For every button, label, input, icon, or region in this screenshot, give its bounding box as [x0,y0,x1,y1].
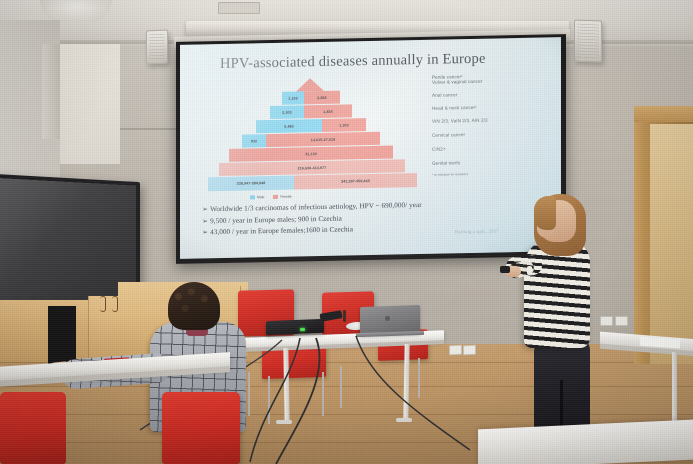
wall-column [42,44,60,139]
chart-label-anal: Anal cancer [432,91,554,98]
wall-outlet[interactable] [600,316,613,326]
chart-legend: Male Female [250,195,292,200]
pen-object[interactable] [343,310,346,322]
legend-item-male: Male [250,195,264,199]
cabinet-handle-icon[interactable] [112,296,118,312]
laptop-logo-icon [385,316,390,321]
wall-speaker-right [574,20,602,63]
legend-swatch-male [250,195,255,199]
pyramid-value-male: 5,485 [256,119,322,133]
pyramid-value-male: 2,303 [270,105,304,119]
upper-wall-panel [60,44,120,164]
chart-label-cin2: CIN2+ [432,145,554,152]
chair-red-attendee[interactable] [162,392,240,464]
slide-bullet-text: 9,500 / year in Europe males; 900 in Cze… [210,214,342,225]
bullet-marker-icon: ➢ [202,229,208,237]
ceiling-light-dome [40,0,112,22]
legend-item-female: Female [273,195,291,199]
presentation-clicker[interactable] [500,266,510,273]
pyramid-row: 5,485 1,303 [256,118,366,133]
pyramid-row: 338,947-384,948 341,397-459,443 [208,173,417,191]
wall-speaker-left [146,30,168,65]
door-header [634,106,693,122]
chart-label-warts: Genital warts [432,159,554,166]
legend-label-male: Male [257,195,264,199]
bullet-marker-icon: ➢ [202,205,208,213]
presenter-watch [527,266,532,275]
attendee-hair [168,282,220,330]
pyramid-value-female: 1,834 [304,104,352,118]
slide-bullet-text: 43,000 / year in Europe females;1600 in … [210,226,353,237]
projector-screen: HPV-associated diseases annually in Euro… [180,37,561,259]
chart-label-vulvar: Vulvar & vaginal cancer [432,78,554,85]
pyramid-value-female: 1,303 [322,118,366,132]
wall-outlet[interactable] [615,316,628,326]
legend-swatch-female [273,195,278,199]
pyramid-value-male: 1,153 [282,91,304,104]
chart-label-cervical: Cervical cancer [432,131,554,138]
pyramid-row: 2,303 1,834 [270,104,352,119]
slide-bullet-text: Worldwide 1/3 carcinomas of infectious a… [210,201,422,213]
pyramid-value-male: 338,947-384,948 [208,176,294,192]
door-panel[interactable] [650,124,693,364]
chart-label-vin: VIN 2/3, VaIN 2/3, AIN 2/3 [432,118,554,125]
pyramid-value-female: 341,397-459,443 [294,173,417,189]
pyramid-value-female: 2,826 [304,91,340,105]
chart-footnote: ¹ no indication for Gardasil 9 [432,170,554,176]
pyramid-row: 832 14,615-27,518 [242,132,380,148]
slide-title: HPV-associated diseases annually in Euro… [220,51,486,73]
cabinet-handle-icon[interactable] [100,296,106,312]
pyramid-chart: 1,153 2,826 2,303 1,834 5,485 1,303 832 … [212,76,417,196]
chart-label-headneck: Head & neck cancer¹ [432,105,554,112]
presentation-slide: HPV-associated diseases annually in Euro… [180,37,561,259]
pyramid-apex [296,78,324,92]
presenter-hair-front [534,196,556,230]
chart-right-labels: Penile cancer¹ Vulvar & vaginal cancer A… [432,73,554,176]
chair-red-foreground[interactable] [0,392,66,464]
pyramid-row: 1,153 2,826 [282,91,340,105]
slide-citation: Hartwig a spol., 2017 [455,228,499,234]
bullet-marker-icon: ➢ [202,217,208,225]
legend-label-female: Female [280,195,291,199]
pyramid-value-female: 14,615-27,518 [266,132,380,147]
lecture-room-photo: HPV-associated diseases annually in Euro… [0,0,693,464]
ceiling-vent [218,2,260,14]
pyramid-value-male: 832 [242,134,266,147]
